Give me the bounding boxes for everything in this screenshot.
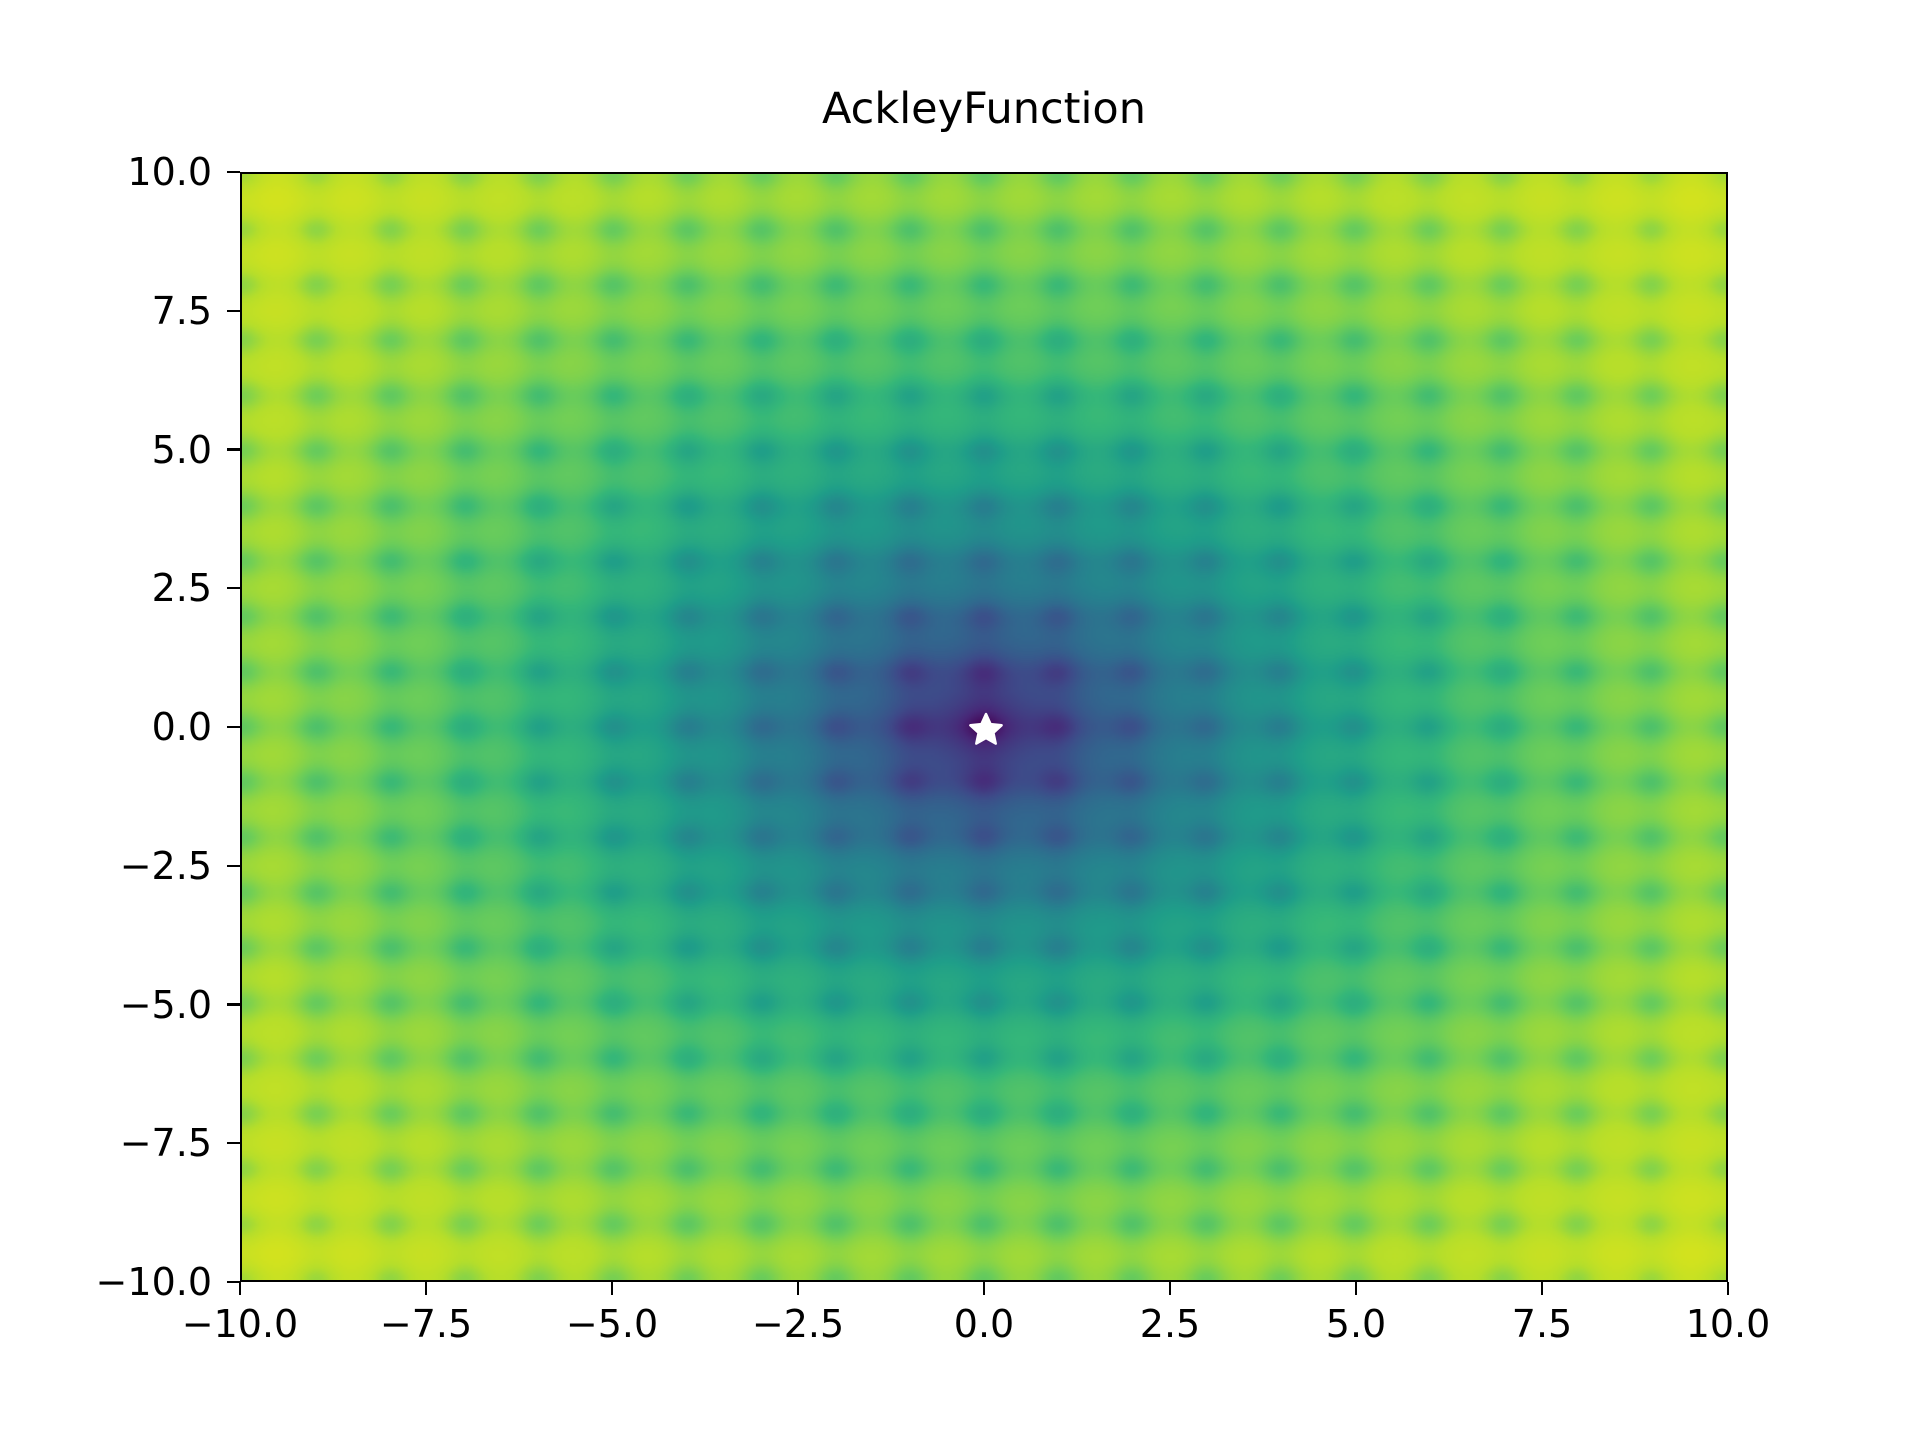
x-tick-mark bbox=[425, 1282, 427, 1295]
y-tick-label: −10.0 bbox=[96, 1263, 212, 1301]
x-tick-mark bbox=[239, 1282, 241, 1295]
x-tick-mark bbox=[1541, 1282, 1543, 1295]
plot-axes[interactable] bbox=[240, 172, 1728, 1282]
y-tick-label: 5.0 bbox=[152, 431, 212, 469]
y-tick-label: −5.0 bbox=[120, 986, 212, 1024]
x-tick-mark bbox=[983, 1282, 985, 1295]
y-tick-label: 10.0 bbox=[127, 153, 212, 191]
x-tick-label: 0.0 bbox=[954, 1305, 1014, 1343]
y-tick-mark bbox=[227, 726, 240, 728]
x-tick-mark bbox=[1169, 1282, 1171, 1295]
ackley-function-heatmap bbox=[242, 174, 1726, 1280]
x-tick-label: 10.0 bbox=[1686, 1305, 1771, 1343]
x-tick-mark bbox=[1355, 1282, 1357, 1295]
x-tick-label: 2.5 bbox=[1140, 1305, 1200, 1343]
x-tick-label: −7.5 bbox=[380, 1305, 472, 1343]
y-tick-mark bbox=[227, 587, 240, 589]
x-tick-label: 5.0 bbox=[1326, 1305, 1386, 1343]
x-tick-label: −10.0 bbox=[182, 1305, 298, 1343]
x-tick-mark bbox=[611, 1282, 613, 1295]
y-tick-mark bbox=[227, 171, 240, 173]
x-tick-label: 7.5 bbox=[1512, 1305, 1572, 1343]
y-tick-mark bbox=[227, 1003, 240, 1005]
x-tick-label: −5.0 bbox=[566, 1305, 658, 1343]
x-tick-mark bbox=[1727, 1282, 1729, 1295]
page-title: AckleyFunction bbox=[24, 88, 1920, 131]
y-tick-mark bbox=[227, 310, 240, 312]
x-tick-mark bbox=[797, 1282, 799, 1295]
y-tick-label: 7.5 bbox=[152, 292, 212, 330]
y-tick-mark bbox=[227, 1281, 240, 1283]
figure-canvas: AckleyFunction −10.0−7.5−5.0−2.50.02.55.… bbox=[0, 0, 1920, 1440]
y-tick-mark bbox=[227, 1142, 240, 1144]
y-tick-label: 0.0 bbox=[152, 708, 212, 746]
x-tick-label: −2.5 bbox=[752, 1305, 844, 1343]
y-tick-mark bbox=[227, 865, 240, 867]
y-tick-label: −7.5 bbox=[120, 1124, 212, 1162]
y-tick-mark bbox=[227, 448, 240, 450]
y-tick-label: −2.5 bbox=[120, 847, 212, 885]
y-tick-label: 2.5 bbox=[152, 569, 212, 607]
